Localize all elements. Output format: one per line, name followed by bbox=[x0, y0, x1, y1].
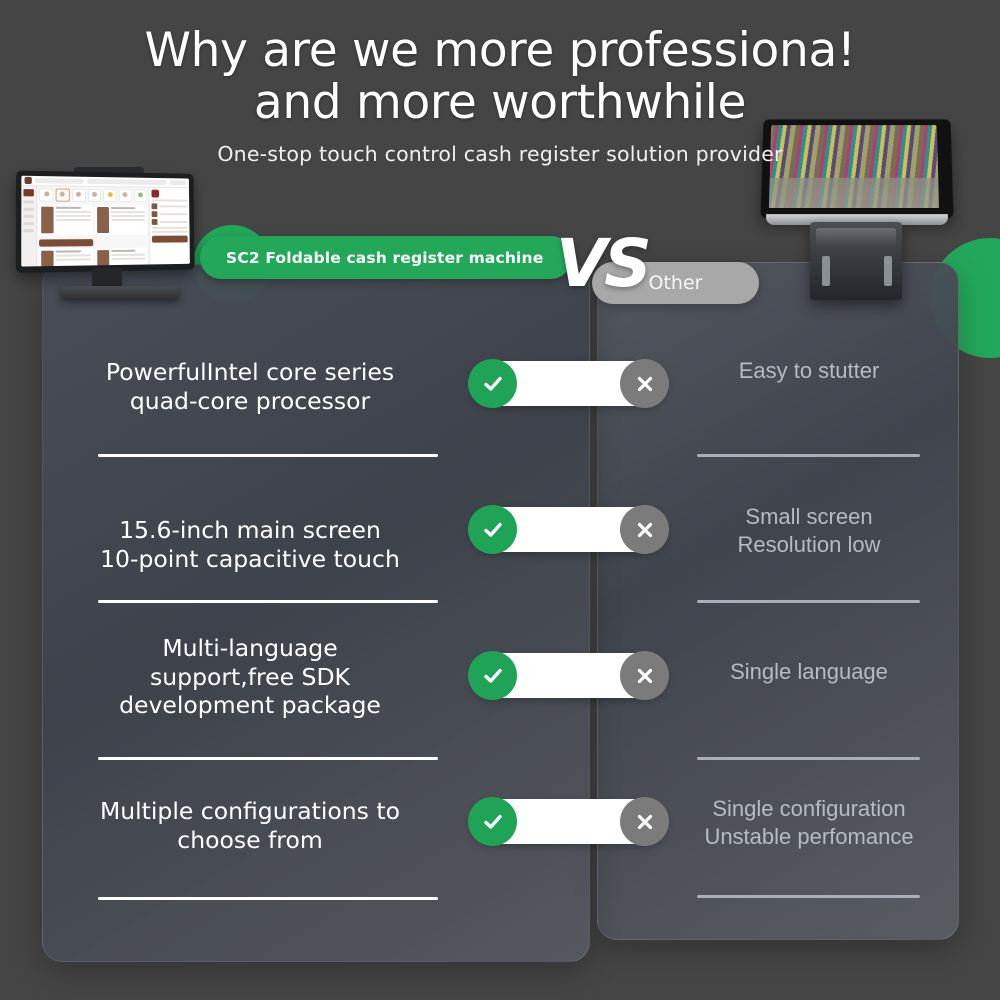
header: Why are we more professiona! and more wo… bbox=[0, 0, 1000, 166]
feature-divider-other bbox=[697, 895, 920, 898]
feature-toggle[interactable] bbox=[470, 799, 667, 844]
feature-other-line: Single language bbox=[650, 658, 968, 686]
check-icon bbox=[468, 505, 517, 554]
feature-ours-line: development package bbox=[60, 691, 440, 720]
feature-ours-text: 15.6-inch main screen 10-point capacitiv… bbox=[60, 516, 440, 573]
badge-other-label: Other bbox=[649, 272, 703, 294]
badge-ours-label: SC2 Foldable cash register machine bbox=[226, 249, 543, 267]
feature-toggle[interactable] bbox=[470, 507, 667, 552]
feature-other-text: Small screen Resolution low bbox=[650, 503, 968, 559]
feature-other-line: Single configuration bbox=[650, 795, 968, 823]
feature-other-text: Single configuration Unstable perfomance bbox=[650, 795, 968, 851]
feature-other-line: Small screen bbox=[650, 503, 968, 531]
feature-toggle[interactable] bbox=[470, 653, 667, 698]
feature-divider-other bbox=[697, 600, 920, 603]
feature-ours-text: PowerfulIntel core series quad-core proc… bbox=[60, 358, 440, 415]
vs-label: VS bbox=[556, 228, 649, 300]
comparison-badges: Other SC2 Foldable cash register machine… bbox=[0, 236, 1000, 308]
feature-divider-ours bbox=[98, 600, 438, 603]
feature-other-text: Single language bbox=[650, 658, 968, 686]
feature-other-line: Resolution low bbox=[650, 531, 968, 559]
check-icon bbox=[468, 797, 517, 846]
page-title-line-2: and more worthwhile bbox=[0, 80, 1000, 126]
feature-ours-line: 15.6-inch main screen bbox=[60, 516, 440, 545]
check-icon bbox=[468, 359, 517, 408]
feature-divider-ours bbox=[98, 757, 438, 760]
feature-ours-text: Multi-language support,free SDK developm… bbox=[60, 634, 440, 720]
feature-ours-line: quad-core processor bbox=[60, 387, 440, 416]
feature-divider-ours bbox=[98, 454, 438, 457]
feature-ours-line: choose from bbox=[60, 826, 440, 855]
feature-ours-line: 10-point capacitive touch bbox=[60, 545, 440, 574]
feature-other-text: Easy to stutter bbox=[650, 357, 968, 385]
page-title-line-1: Why are we more professiona! bbox=[0, 28, 1000, 74]
feature-ours-line: PowerfulIntel core series bbox=[60, 358, 440, 387]
feature-ours-line: Multi-language bbox=[60, 634, 440, 663]
feature-ours-text: Multiple configurations to choose from bbox=[60, 797, 440, 854]
feature-other-line: Easy to stutter bbox=[650, 357, 968, 385]
feature-divider-ours bbox=[98, 897, 438, 900]
feature-toggle[interactable] bbox=[470, 361, 667, 406]
feature-ours-line: support,free SDK bbox=[60, 663, 440, 692]
check-icon bbox=[468, 651, 517, 700]
feature-divider-other bbox=[697, 454, 920, 457]
page-subtitle: One-stop touch control cash register sol… bbox=[0, 142, 1000, 166]
feature-other-line: Unstable perfomance bbox=[650, 823, 968, 851]
badge-ours[interactable]: SC2 Foldable cash register machine bbox=[200, 236, 572, 279]
feature-divider-other bbox=[697, 757, 920, 760]
feature-ours-line: Multiple configurations to bbox=[60, 797, 440, 826]
